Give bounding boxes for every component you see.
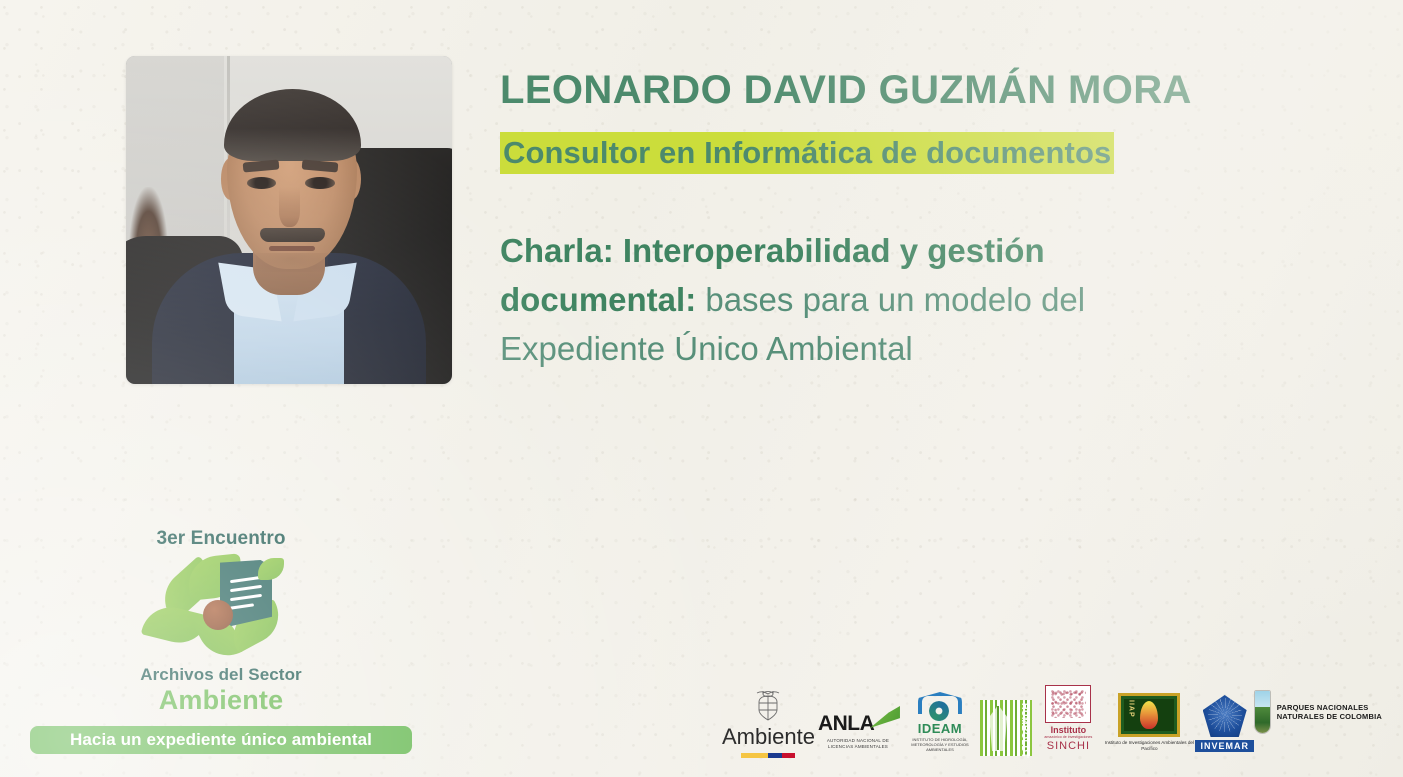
partner-logo-ambiente: Ambiente	[722, 686, 815, 758]
partner-label-iiap: IIAP	[1127, 700, 1134, 718]
partner-label-invemar: INVEMAR	[1195, 740, 1254, 752]
photo-eye-right	[305, 177, 334, 189]
presentation-slide: LEONARDO DAVID GUZMÁN MORA Consultor en …	[0, 0, 1403, 777]
parques-wordmark: PARQUES NACIONALES NATURALES DE COLOMBIA	[1277, 703, 1382, 721]
event-logo: 3er Encuentro Archivos del Sector Ambien…	[30, 528, 412, 708]
anla-swoosh-icon	[870, 706, 900, 728]
photo-eye-left	[247, 177, 276, 189]
partner-logo-iiap: IIAP Instituto de Investigaciones Ambien…	[1103, 680, 1195, 758]
colombia-coat-of-arms-icon	[753, 690, 783, 724]
sinchi-tree-icon	[1045, 685, 1091, 723]
partner-label-sinchi: Instituto	[1051, 725, 1087, 735]
iiap-flame-shape-icon	[1140, 701, 1158, 729]
partner-sublabel-parques: NATURALES DE COLOMBIA	[1277, 712, 1382, 721]
talk-title-rest-line2: bases para un modelo del	[696, 281, 1085, 318]
partner-logo-ideam: IDEAM INSTITUTO DE HIDROLOGÍA, METEOROLO…	[901, 680, 979, 758]
ideam-house-spiral-icon	[918, 692, 962, 722]
humboldt-stem-icon	[997, 706, 999, 750]
photo-chin	[256, 253, 328, 273]
event-logo-sub-label-2: Ambiente	[30, 685, 412, 715]
partner-label-sinchi-acronym: SINCHI	[1047, 740, 1090, 752]
partner-logo-strip: Ambiente ANLA AUTORIDAD NACIONAL DE LICE…	[722, 686, 1382, 758]
parques-shield-icon	[1254, 690, 1271, 734]
humboldt-leaf-barcode-icon: HUMBOLDT	[980, 700, 1032, 756]
partner-label-ideam: IDEAM	[918, 722, 962, 736]
flag-stripe-red	[782, 753, 796, 758]
event-tagline-pill: Hacia un expediente único ambiental	[30, 726, 412, 754]
colombia-flag-icon	[741, 753, 795, 758]
flag-stripe-yellow	[741, 753, 768, 758]
partner-logo-humboldt: HUMBOLDT	[979, 684, 1033, 758]
partner-logo-sinchi: Instituto amazónico de investigaciones S…	[1033, 680, 1103, 758]
sinchi-tree-canopy-icon	[1050, 690, 1086, 718]
partner-label-parques: PARQUES NACIONALES	[1277, 703, 1382, 712]
parques-land-icon	[1255, 707, 1270, 733]
partner-logo-invemar: INVEMAR	[1195, 680, 1254, 758]
anla-wordmark: ANLA	[818, 712, 898, 736]
talk-title-bold-line2: documental:	[500, 281, 696, 318]
speaker-name: LEONARDO DAVID GUZMÁN MORA	[500, 64, 1280, 116]
partner-logo-anla: ANLA AUTORIDAD NACIONAL DE LICENCIAS AMB…	[815, 678, 901, 758]
photo-mouth	[269, 246, 315, 251]
flower-center-icon	[203, 600, 233, 630]
talk-title: Charla: Interoperabilidad y gestión docu…	[500, 226, 1260, 373]
flag-stripe-blue	[768, 753, 782, 758]
event-tagline-label: Hacia un expediente único ambiental	[70, 730, 372, 750]
photo-moustache	[260, 228, 325, 242]
photo-nose	[279, 187, 300, 226]
speaker-role-label: Consultor en Informática de documentos	[503, 135, 1111, 171]
ideam-spiral-icon	[929, 701, 949, 721]
partner-sublabel-anla: AUTORIDAD NACIONAL DE LICENCIAS AMBIENTA…	[815, 738, 901, 750]
partner-label-ambiente: Ambiente	[722, 726, 815, 748]
event-logo-sub-label-1: Archivos del Sector	[30, 665, 412, 685]
event-logo-flower-mark	[146, 554, 296, 659]
partner-label-humboldt: HUMBOLDT	[1020, 703, 1030, 759]
invemar-starfish-icon	[1208, 698, 1242, 732]
talk-title-line3: Expediente Único Ambiental	[500, 330, 913, 367]
invemar-pentagon-starfish-icon	[1203, 695, 1247, 737]
speaker-photo	[126, 56, 452, 384]
partner-sublabel-ideam: INSTITUTO DE HIDROLOGÍA, METEOROLOGÍA Y …	[901, 737, 979, 752]
iiap-flame-icon: IIAP	[1118, 693, 1180, 737]
event-logo-top-label: 3er Encuentro	[30, 528, 412, 550]
partner-label-anla: ANLA	[818, 712, 874, 736]
speaker-role-highlight: Consultor en Informática de documentos	[500, 132, 1114, 174]
talk-title-bold-line1: Charla: Interoperabilidad y gestión	[500, 232, 1045, 269]
partner-logo-parques: PARQUES NACIONALES NATURALES DE COLOMBIA	[1254, 676, 1382, 758]
partner-sublabel-iiap: Instituto de Investigaciones Ambientales…	[1103, 740, 1195, 752]
